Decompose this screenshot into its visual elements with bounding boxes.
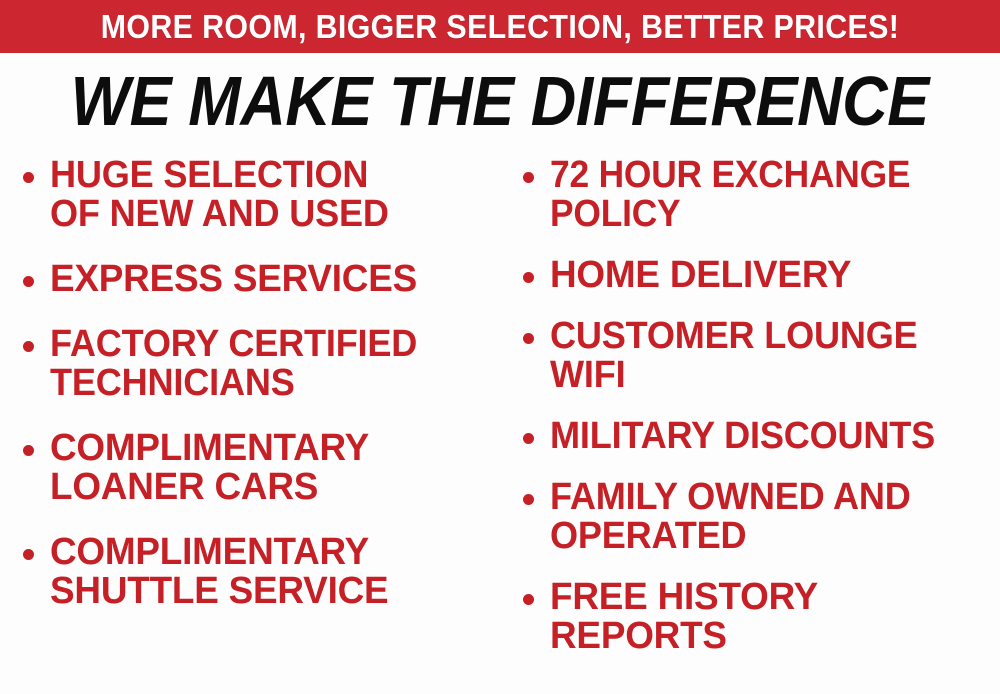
list-item: MILITARY DISCOUNTS [514,417,1000,456]
list-item: HUGE SELECTION OF NEW AND USED [14,156,500,234]
list-item-label: HUGE SELECTION OF NEW AND USED [50,156,478,234]
list-item-label: CUSTOMER LOUNGE WIFI [550,317,978,395]
promo-graphic: MORE ROOM, BIGGER SELECTION, BETTER PRIC… [0,0,1000,694]
bullet-dot-icon [23,445,34,456]
page-title: WE MAKE THE DIFFERENCE [71,66,929,136]
bullet-dot-icon [523,433,534,444]
list-item: COMPLIMENTARY LOANER CARS [14,429,500,507]
bullet-dot-icon [23,549,34,560]
main-headline-container: WE MAKE THE DIFFERENCE [0,66,1000,136]
list-item-label: COMPLIMENTARY LOANER CARS [50,429,487,507]
banner-headline: MORE ROOM, BIGGER SELECTION, BETTER PRIC… [101,10,899,43]
list-item-label: MILITARY DISCOUNTS [550,417,978,456]
list-item: COMPLIMENTARY SHUTTLE SERVICE [14,533,500,611]
bullet-dot-icon [23,276,34,287]
list-item-label: HOME DELIVERY [550,256,987,295]
bullet-dot-icon [523,494,534,505]
bullet-dot-icon [523,333,534,344]
list-item-label: FACTORY CERTIFIED TECHNICIANS [50,325,478,403]
bullet-dot-icon [23,172,34,183]
feature-column-right: 72 HOUR EXCHANGE POLICY HOME DELIVERY CU… [514,156,1000,678]
features-columns: HUGE SELECTION OF NEW AND USED EXPRESS S… [0,156,1000,694]
bullet-dot-icon [23,341,34,352]
list-item: FAMILY OWNED AND OPERATED [514,478,1000,556]
list-item: CUSTOMER LOUNGE WIFI [514,317,1000,395]
list-item: 72 HOUR EXCHANGE POLICY [514,156,1000,234]
bullet-dot-icon [523,594,534,605]
list-item-label: 72 HOUR EXCHANGE POLICY [550,156,969,234]
list-item: FACTORY CERTIFIED TECHNICIANS [14,325,500,403]
list-item-label: FREE HISTORY REPORTS [550,578,987,656]
list-item-label: EXPRESS SERVICES [50,260,487,299]
list-item: FREE HISTORY REPORTS [514,578,1000,656]
bullet-dot-icon [523,272,534,283]
top-banner: MORE ROOM, BIGGER SELECTION, BETTER PRIC… [0,0,1000,53]
list-item: EXPRESS SERVICES [14,260,500,299]
feature-column-left: HUGE SELECTION OF NEW AND USED EXPRESS S… [14,156,500,637]
list-item: HOME DELIVERY [514,256,1000,295]
bullet-dot-icon [523,172,534,183]
list-item-label: FAMILY OWNED AND OPERATED [550,478,978,556]
list-item-label: COMPLIMENTARY SHUTTLE SERVICE [50,533,487,611]
